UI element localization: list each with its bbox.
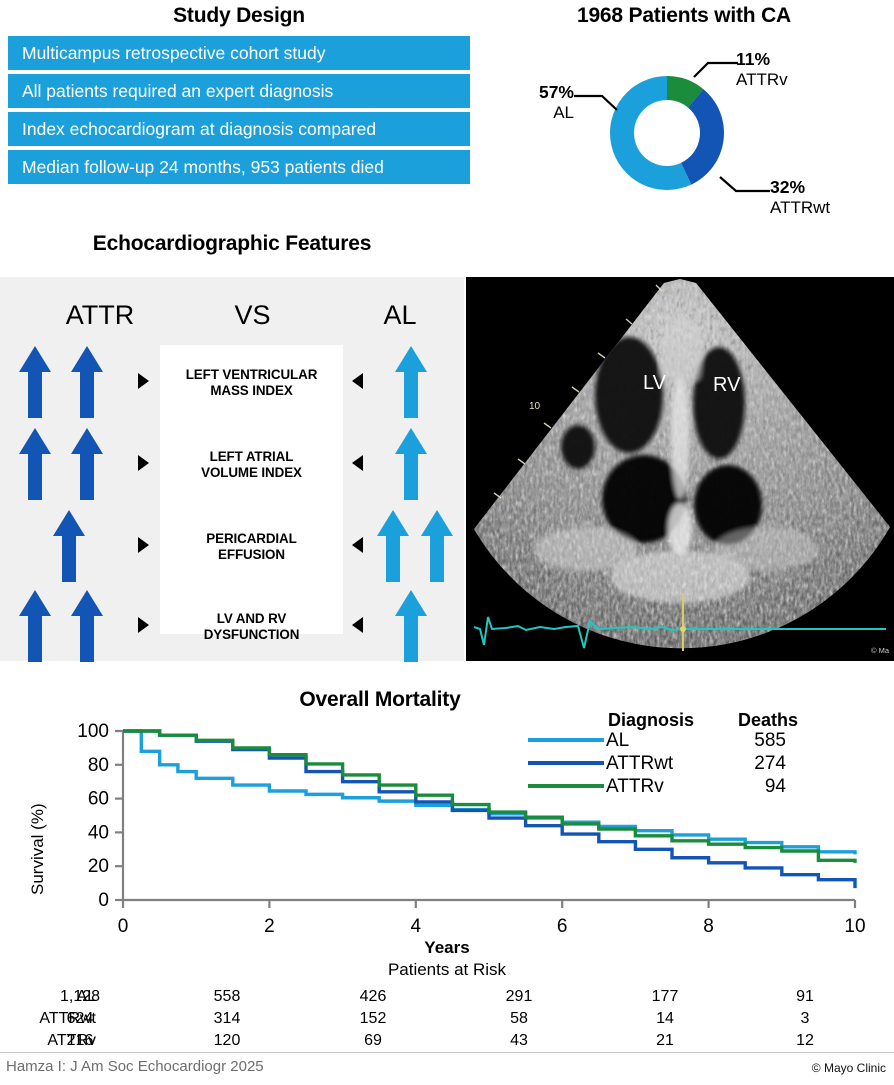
y-tick-label: 0 <box>98 890 109 911</box>
feature-label-line2: EFFUSION <box>218 547 285 562</box>
arrow-triangle-right-icon <box>138 373 149 389</box>
risk-cell: 291 <box>473 988 565 1006</box>
risk-cell: 14 <box>619 1010 711 1028</box>
feature-label-line2: DYSFUNCTION <box>204 627 300 642</box>
risk-table-row: ATTRv21612069432112 <box>0 1032 894 1054</box>
attr-arrow <box>18 345 52 419</box>
risk-cell: 21 <box>619 1032 711 1050</box>
legend-label: ATTRwt <box>606 753 674 774</box>
feature-label-line1: LV AND RV <box>217 611 287 626</box>
features-title: Echocardiographic Features <box>0 232 464 256</box>
al-arrow <box>394 345 428 419</box>
echo-copyright: © Ma <box>871 646 889 655</box>
risk-cell: 3 <box>759 1010 851 1028</box>
legend-header: Diagnosis <box>608 710 694 730</box>
footer-divider <box>0 1052 894 1053</box>
arrow-triangle-right-icon <box>138 537 149 553</box>
mortality-x-axis-label: Years <box>0 938 894 958</box>
ca-distribution-donut-chart: 11% ATTRv 32% ATTRwt 57% AL <box>474 30 894 230</box>
donut-title: 1968 Patients with CA <box>474 4 894 28</box>
donut-callout-al: 57% AL <box>484 83 574 122</box>
donut-callout-attrv: 11% ATTRv <box>736 50 788 89</box>
y-tick-label: 60 <box>88 789 109 810</box>
risk-cell: 1,128 <box>34 988 126 1006</box>
echocardiogram-image: LV RV 10 © Ma <box>466 277 894 661</box>
risk-cell: 43 <box>473 1032 565 1050</box>
attr-arrow <box>18 427 52 501</box>
x-tick-label: 4 <box>411 916 422 937</box>
donut-callout-al-name: AL <box>553 103 574 122</box>
arrow-triangle-right-icon <box>138 455 149 471</box>
donut-callout-attrv-name: ATTRv <box>736 70 788 89</box>
y-tick-label: 40 <box>88 822 109 843</box>
risk-cell: 177 <box>619 988 711 1006</box>
al-arrow <box>394 427 428 501</box>
feature-label-line1: LEFT ATRIAL <box>210 449 294 464</box>
study-design-bar: Median follow-up 24 months, 953 patients… <box>8 150 470 184</box>
legend-deaths-value: 585 <box>754 730 786 751</box>
al-arrow <box>376 509 410 583</box>
echo-label-rv: RV <box>713 374 740 397</box>
x-tick-label: 2 <box>264 916 275 937</box>
legend-deaths-value: 94 <box>765 776 787 797</box>
mortality-svg: 0204060801000246810 DiagnosisDeathsAL585… <box>0 680 894 940</box>
y-tick-label: 20 <box>88 856 109 877</box>
study-design-title: Study Design <box>8 4 470 28</box>
al-arrow <box>394 589 428 663</box>
x-tick-label: 10 <box>844 916 865 937</box>
risk-cell: 624 <box>34 1010 126 1028</box>
legend-header: Deaths <box>738 710 798 730</box>
study-design-bar-list: Multicampus retrospective cohort studyAl… <box>8 36 470 188</box>
study-design-bar: Index echocardiogram at diagnosis compar… <box>8 112 470 146</box>
risk-table-row: AL1,12855842629117791 <box>0 988 894 1010</box>
attr-arrow <box>70 345 104 419</box>
echo-depth-marker: 10 <box>529 401 540 412</box>
donut-callout-al-pct: 57% <box>539 82 574 102</box>
risk-cell: 558 <box>181 988 273 1006</box>
x-tick-label: 6 <box>557 916 568 937</box>
mayo-copyright: © Mayo Clinic <box>812 1061 886 1075</box>
feature-label-line2: VOLUME INDEX <box>201 465 302 480</box>
callout-line-al <box>574 96 617 110</box>
x-tick-label: 8 <box>703 916 714 937</box>
study-design-bar: Multicampus retrospective cohort study <box>8 36 470 70</box>
arrow-triangle-left-icon <box>352 373 363 389</box>
risk-table-row: ATTRwt62431415258143 <box>0 1010 894 1032</box>
echo-svg <box>466 277 894 661</box>
mortality-y-axis-label: Survival (%) <box>28 803 48 895</box>
feature-label: PERICARDIALEFFUSION <box>160 531 343 563</box>
risk-cell: 314 <box>181 1010 273 1028</box>
feature-label: LV AND RVDYSFUNCTION <box>160 611 343 643</box>
attr-arrow <box>70 427 104 501</box>
y-tick-label: 80 <box>88 755 109 776</box>
arrow-triangle-left-icon <box>352 617 363 633</box>
feature-label-line1: LEFT VENTRICULAR <box>186 367 318 382</box>
feature-label: LEFT VENTRICULARMASS INDEX <box>160 367 343 399</box>
risk-cell: 120 <box>181 1032 273 1050</box>
feature-label-line1: PERICARDIAL <box>206 531 296 546</box>
risk-cell: 91 <box>759 988 851 1006</box>
risk-cell: 426 <box>327 988 419 1006</box>
attr-arrow <box>52 509 86 583</box>
feature-label: LEFT ATRIALVOLUME INDEX <box>160 449 343 481</box>
arrow-triangle-left-icon <box>352 455 363 471</box>
risk-cell: 58 <box>473 1010 565 1028</box>
donut-svg <box>474 30 894 230</box>
study-design-bar: All patients required an expert diagnosi… <box>8 74 470 108</box>
donut-callout-attrwt-name: ATTRwt <box>770 198 830 217</box>
citation: Hamza I: J Am Soc Echocardiogr 2025 <box>6 1058 264 1075</box>
legend-label: ATTRv <box>606 776 664 797</box>
patients-at-risk-caption: Patients at Risk <box>0 960 894 980</box>
risk-cell: 216 <box>34 1032 126 1050</box>
risk-cell: 152 <box>327 1010 419 1028</box>
donut-callout-attrwt-pct: 32% <box>770 177 805 197</box>
donut-callout-attrwt: 32% ATTRwt <box>770 178 830 217</box>
al-arrow <box>420 509 454 583</box>
attr-arrow <box>18 589 52 663</box>
feature-label-line2: MASS INDEX <box>210 383 292 398</box>
overall-mortality-chart: 0204060801000246810 DiagnosisDeathsAL585… <box>0 680 894 940</box>
legend-deaths-value: 274 <box>754 753 786 774</box>
features-rows: LEFT VENTRICULARMASS INDEXLEFT ATRIALVOL… <box>0 277 464 661</box>
arrow-triangle-right-icon <box>138 617 149 633</box>
legend-label: AL <box>606 730 629 751</box>
callout-line-attrv <box>694 63 738 77</box>
risk-cell: 12 <box>759 1032 851 1050</box>
risk-cell: 69 <box>327 1032 419 1050</box>
arrow-triangle-left-icon <box>352 537 363 553</box>
echo-label-lv: LV <box>643 372 666 395</box>
donut-callout-attrv-pct: 11% <box>736 49 770 69</box>
attr-arrow <box>70 589 104 663</box>
y-tick-label: 100 <box>77 721 109 742</box>
callout-line-attrwt <box>720 177 770 191</box>
x-tick-label: 0 <box>118 916 129 937</box>
